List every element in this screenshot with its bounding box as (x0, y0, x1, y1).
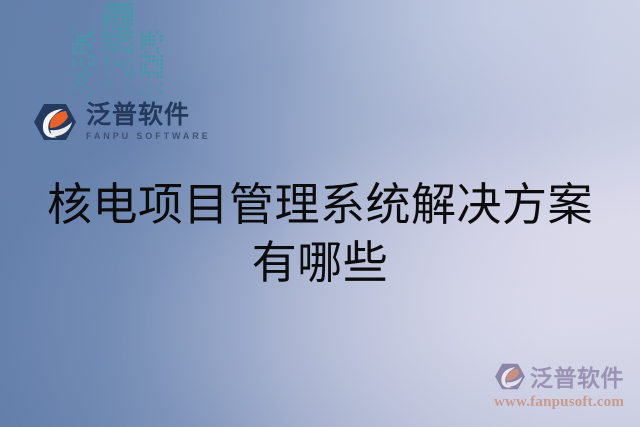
skyline-pixel (152, 39, 155, 42)
skyline-pixel (72, 79, 75, 82)
skyline-pixel (110, 23, 113, 26)
skyline-pixel (106, 27, 109, 30)
skyline-pixel (160, 35, 163, 38)
skyline-pixel (80, 35, 83, 38)
skyline-pixel (88, 59, 91, 62)
skyline-pixel (110, 91, 113, 94)
skyline-pixel (126, 71, 129, 74)
skyline-pixel (144, 47, 147, 50)
skyline-pixel (130, 63, 133, 66)
skyline-pixel (92, 31, 95, 34)
skyline-pixel (160, 95, 163, 98)
skyline-pixel (156, 47, 159, 50)
skyline-pixel (118, 63, 121, 66)
skyline-pixel (72, 75, 75, 78)
skyline-pixel (92, 75, 95, 78)
skyline-pixel (102, 11, 105, 14)
skyline-pixel (114, 27, 117, 30)
skyline-pixel (76, 59, 79, 62)
skyline-pixel (80, 71, 83, 74)
skyline-pixel (110, 55, 113, 58)
skyline-pixel (110, 47, 113, 50)
skyline-pixel (106, 59, 109, 62)
skyline-pixel (84, 51, 87, 54)
skyline-pixel (76, 91, 79, 94)
skyline-pixel (130, 55, 133, 58)
skyline-pixel (102, 23, 105, 26)
skyline-pixel (122, 71, 125, 74)
skyline-pixel (126, 15, 129, 18)
skyline-pixel (160, 75, 163, 78)
skyline-pixel (114, 3, 117, 6)
skyline-pixel (152, 47, 155, 50)
skyline-pixel (84, 83, 87, 86)
skyline-pixel (114, 59, 117, 62)
skyline-pixel (80, 43, 83, 46)
skyline-pixel (148, 55, 151, 58)
skyline-pixel (92, 39, 95, 42)
skyline-pixel (88, 39, 91, 42)
skyline-pixel (110, 3, 113, 6)
skyline-pixel (76, 47, 79, 50)
skyline-pixel (130, 3, 133, 6)
watermark-url: www.fanpusoft.com (486, 394, 632, 411)
skyline-pixel (148, 87, 151, 90)
skyline-pixel (130, 59, 133, 62)
skyline-pixel (152, 63, 155, 66)
skyline-pixel (76, 83, 79, 86)
skyline-pixel (152, 95, 155, 98)
skyline-pixel (118, 15, 121, 18)
skyline-pixel (130, 11, 133, 14)
skyline-pixel (114, 67, 117, 70)
skyline-pixel (76, 99, 79, 102)
skyline-pixel (106, 95, 109, 98)
skyline-pixel (114, 19, 117, 22)
skyline-pixel (118, 51, 121, 54)
skyline-pixel (130, 47, 133, 50)
skyline-pixel (92, 83, 95, 86)
skyline-pixel (72, 71, 75, 74)
skyline-pixel (110, 15, 113, 18)
skyline-pixel (156, 91, 159, 94)
skyline-pixel (156, 31, 159, 34)
skyline-pixel (102, 59, 105, 62)
skyline-pixel (122, 87, 125, 90)
skyline-pixel (84, 39, 87, 42)
skyline-pixel (126, 63, 129, 66)
skyline-pixel (106, 71, 109, 74)
skyline-pixel (160, 59, 163, 62)
skyline-pixel (88, 87, 91, 90)
skyline-pixel (160, 71, 163, 74)
skyline-pixel (122, 7, 125, 10)
skyline-tower-left (72, 31, 96, 102)
skyline-pixel (110, 7, 113, 10)
skyline-pixel (126, 35, 129, 38)
skyline-pixel (152, 51, 155, 54)
skyline-pixel (80, 87, 83, 90)
skyline-pixel (102, 79, 105, 82)
skyline-pixel (126, 51, 129, 54)
skyline-pixel (144, 95, 147, 98)
skyline-pixel (130, 79, 133, 82)
skyline-pixel (118, 19, 121, 22)
skyline-pixel (102, 55, 105, 58)
skyline-pixel (160, 47, 163, 50)
skyline-pixel (84, 43, 87, 46)
skyline-pixel (140, 59, 143, 62)
skyline-pixel (102, 75, 105, 78)
skyline-pixel (148, 43, 151, 46)
skyline-pixel (114, 71, 117, 74)
skyline-pixel (110, 11, 113, 14)
skyline-pixel (92, 55, 95, 58)
skyline-pixel (110, 67, 113, 70)
skyline-pixel (118, 23, 121, 26)
skyline-pixel (130, 27, 133, 30)
skyline-pixel (156, 95, 159, 98)
skyline-pixel (156, 35, 159, 38)
skyline-pixel (126, 23, 129, 26)
skyline-pixel (110, 71, 113, 74)
skyline-pixel (106, 79, 109, 82)
skyline-pixel (156, 63, 159, 66)
brand-wordmark: 泛普软件 FANPU SOFTWARE (86, 103, 211, 141)
skyline-pixel (76, 67, 79, 70)
skyline-pixel (80, 39, 83, 42)
skyline-pixel (118, 71, 121, 74)
brand-name-en: FANPU SOFTWARE (86, 132, 211, 141)
skyline-pixel (80, 99, 83, 102)
skyline-pixel (130, 23, 133, 26)
skyline-pixel (102, 47, 105, 50)
skyline-pixel (122, 43, 125, 46)
skyline-tower-right (140, 31, 164, 102)
skyline-pixel (72, 83, 75, 86)
skyline-pixel (126, 27, 129, 30)
skyline-pixel (72, 59, 75, 62)
skyline-pixel (80, 63, 83, 66)
skyline-pixel (126, 39, 129, 42)
skyline-pixel (114, 11, 117, 14)
page-title-line-1: 核电项目管理系统解决方案 (0, 176, 640, 234)
skyline-pixel (152, 59, 155, 62)
skyline-pixel (110, 83, 113, 86)
skyline-pixel (102, 51, 105, 54)
skyline-pixel (110, 95, 113, 98)
skyline-pixel (140, 75, 143, 78)
skyline-pixel (130, 31, 133, 34)
skyline-pixel (126, 7, 129, 10)
skyline-pixel (140, 95, 143, 98)
skyline-pixel (152, 79, 155, 82)
skyline-pixel (140, 39, 143, 42)
skyline-pixel (72, 91, 75, 94)
skyline-pixel (126, 67, 129, 70)
skyline-pixel (156, 75, 159, 78)
skyline-pixel (92, 59, 95, 62)
skyline-pixel (106, 23, 109, 26)
skyline-pixel (156, 79, 159, 82)
skyline-pixel (156, 71, 159, 74)
skyline-pixel (148, 83, 151, 86)
skyline-pixel (72, 63, 75, 66)
skyline-pixel (102, 83, 105, 86)
skyline-pixel (114, 47, 117, 50)
skyline-pixel (76, 79, 79, 82)
watermark-name: 泛普软件 (530, 359, 624, 393)
skyline-pixel (152, 87, 155, 90)
skyline-pixel (88, 63, 91, 66)
skyline-pixel (92, 35, 95, 38)
skyline-pixel (76, 39, 79, 42)
skyline-pixel (76, 31, 79, 34)
skyline-pixel (144, 75, 147, 78)
skyline-pixel (114, 63, 117, 66)
skyline-pixel (148, 67, 151, 70)
skyline-pixel (118, 27, 121, 30)
skyline-pixel (156, 51, 159, 54)
fanpu-hexagon-swoosh-icon (494, 363, 526, 390)
skyline-pixel (152, 55, 155, 58)
skyline-pixel (118, 7, 121, 10)
skyline-pixel (148, 47, 151, 50)
skyline-pixel (144, 79, 147, 82)
skyline-pixel (114, 87, 117, 90)
skyline-pixel (92, 91, 95, 94)
skyline-pixel (92, 47, 95, 50)
skyline-pixel (148, 91, 151, 94)
skyline-pixel (118, 39, 121, 42)
skyline-pixel (118, 83, 121, 86)
skyline-pixel (122, 55, 125, 58)
skyline-pixel (106, 35, 109, 38)
skyline-pixel (148, 31, 151, 34)
skyline-pixel (72, 55, 75, 58)
skyline-pixel (72, 87, 75, 90)
skyline-pixel (160, 63, 163, 66)
skyline-pixel (80, 31, 83, 34)
skyline-pixel (144, 59, 147, 62)
skyline-pixel (148, 51, 151, 54)
skyline-pixel (84, 79, 87, 82)
skyline-pixel (160, 55, 163, 58)
skyline-pixel (152, 75, 155, 78)
skyline-pixel (106, 47, 109, 50)
skyline-pixel (114, 15, 117, 18)
skyline-pixel (114, 83, 117, 86)
skyline-pixel (88, 75, 91, 78)
skyline-pixel (118, 11, 121, 14)
skyline-pixel (148, 63, 151, 66)
skyline-pixel (80, 79, 83, 82)
skyline-pixel (144, 43, 147, 46)
skyline-pixel (118, 87, 121, 90)
skyline-pixel (84, 91, 87, 94)
skyline-pixel (76, 35, 79, 38)
skyline-pixel (140, 91, 143, 94)
skyline-pixel (122, 3, 125, 6)
skyline-pixel (126, 91, 129, 94)
skyline-pixel (102, 3, 105, 6)
skyline-pixel (160, 43, 163, 46)
skyline-pixel (114, 35, 117, 38)
skyline-pixel (144, 63, 147, 66)
skyline-pixel (114, 51, 117, 54)
skyline-pixel (160, 31, 163, 34)
skyline-pixel (92, 87, 95, 90)
skyline-pixel (122, 63, 125, 66)
skyline-pixel (156, 83, 159, 86)
page-title: 核电项目管理系统解决方案 有哪些 (0, 176, 640, 292)
skyline-pixel (156, 55, 159, 58)
skyline-pixel (144, 91, 147, 94)
skyline-pixel (84, 95, 87, 98)
skyline-pixel (84, 31, 87, 34)
skyline-pixel (144, 67, 147, 70)
skyline-pixel (152, 67, 155, 70)
fanpu-hexagon-swoosh-icon (33, 103, 77, 141)
skyline-pixel (102, 19, 105, 22)
skyline-pixel (160, 39, 163, 42)
skyline-pixel (130, 75, 133, 78)
skyline-pixel (110, 51, 113, 54)
skyline-pixel (126, 83, 129, 86)
skyline-pixel (110, 31, 113, 34)
skyline-pixel (84, 71, 87, 74)
skyline-pixel (80, 95, 83, 98)
skyline-pixel (130, 39, 133, 42)
brand-lockup: 泛普软件 FANPU SOFTWARE (33, 103, 211, 141)
skyline-pixel (118, 31, 121, 34)
skyline-pixel (114, 95, 117, 98)
skyline-pixel (126, 87, 129, 90)
skyline-pixel (84, 75, 87, 78)
skyline-pixel (152, 43, 155, 46)
skyline-pixel (122, 75, 125, 78)
skyline-pixel (80, 55, 83, 58)
skyline-pixel (122, 35, 125, 38)
skyline-pixel (72, 95, 75, 98)
skyline-pixel (122, 79, 125, 82)
skyline-pixel (110, 79, 113, 82)
skyline-pixel (72, 39, 75, 42)
skyline-pixel (110, 19, 113, 22)
skyline-pixel (122, 23, 125, 26)
skyline-pixel (152, 31, 155, 34)
skyline-pixel (126, 3, 129, 6)
skyline-pixel (92, 63, 95, 66)
skyline-pixel (130, 87, 133, 90)
skyline-pixel (160, 83, 163, 86)
skyline-pixel (106, 3, 109, 6)
skyline-pixel (106, 91, 109, 94)
skyline-pixel (72, 67, 75, 70)
skyline-pixel (110, 39, 113, 42)
skyline-pixel (130, 83, 133, 86)
skyline-pixel (72, 51, 75, 54)
skyline-pixel (126, 95, 129, 98)
skyline-pixel (88, 95, 91, 98)
skyline-pixel (144, 31, 147, 34)
skyline-pixel (148, 71, 151, 74)
skyline-pixel (80, 47, 83, 50)
skyline-pixel (148, 79, 151, 82)
skyline-tower-mid (102, 3, 134, 102)
skyline-pixel (160, 79, 163, 82)
skyline-pixel (88, 71, 91, 74)
skyline-pixel (118, 67, 121, 70)
skyline-pixel (80, 91, 83, 94)
skyline-pixel (126, 55, 129, 58)
skyline-pixel (106, 43, 109, 46)
skyline-pixel (84, 35, 87, 38)
skyline-pixel (84, 67, 87, 70)
skyline-pixel (102, 95, 105, 98)
skyline-pixel (126, 43, 129, 46)
skyline-pixel (130, 95, 133, 98)
skyline-pixel (156, 39, 159, 42)
skyline-pixel (102, 43, 105, 46)
watermark-brand-row: 泛普软件 (486, 359, 632, 393)
skyline-pixel (126, 11, 129, 14)
skyline-pixel (72, 31, 75, 34)
skyline-pixel (152, 91, 155, 94)
skyline-pixel (144, 71, 147, 74)
skyline-pixel (122, 51, 125, 54)
skyline-pixel (102, 63, 105, 66)
skyline-pixel (92, 71, 95, 74)
skyline-pixel (102, 39, 105, 42)
skyline-pixel (110, 27, 113, 30)
skyline-pixel (84, 55, 87, 58)
skyline-pixel (148, 35, 151, 38)
promo-banner: 泛普软件 FANPU SOFTWARE 核电项目管理系统解决方案 有哪些 泛普软… (0, 0, 640, 427)
skyline-pixel (122, 91, 125, 94)
skyline-pixel (88, 91, 91, 94)
skyline-pixel (88, 79, 91, 82)
skyline-pixel (92, 79, 95, 82)
skyline-pixel (102, 91, 105, 94)
skyline-pixel (102, 67, 105, 70)
skyline-pixel (140, 43, 143, 46)
skyline-pixel (156, 67, 159, 70)
skyline-pixel (106, 67, 109, 70)
skyline-pixel (126, 79, 129, 82)
skyline-pixel (88, 51, 91, 54)
skyline-pixel (160, 91, 163, 94)
skyline-pixel (130, 19, 133, 22)
skyline-pixel (144, 35, 147, 38)
skyline-pixel (110, 35, 113, 38)
skyline-pixel (140, 31, 143, 34)
skyline-pixel (156, 43, 159, 46)
skyline-pixel (92, 51, 95, 54)
skyline-pixel (114, 39, 117, 42)
skyline-pixel (80, 59, 83, 62)
skyline-pixel (106, 75, 109, 78)
skyline-pixel (160, 51, 163, 54)
skyline-pixel (80, 75, 83, 78)
skyline-pixel (102, 31, 105, 34)
skyline-pixel (148, 95, 151, 98)
skyline-pixel (114, 55, 117, 58)
skyline-pixel (106, 11, 109, 14)
skyline-pixel (122, 19, 125, 22)
skyline-pixel (84, 59, 87, 62)
skyline-pixel (106, 19, 109, 22)
